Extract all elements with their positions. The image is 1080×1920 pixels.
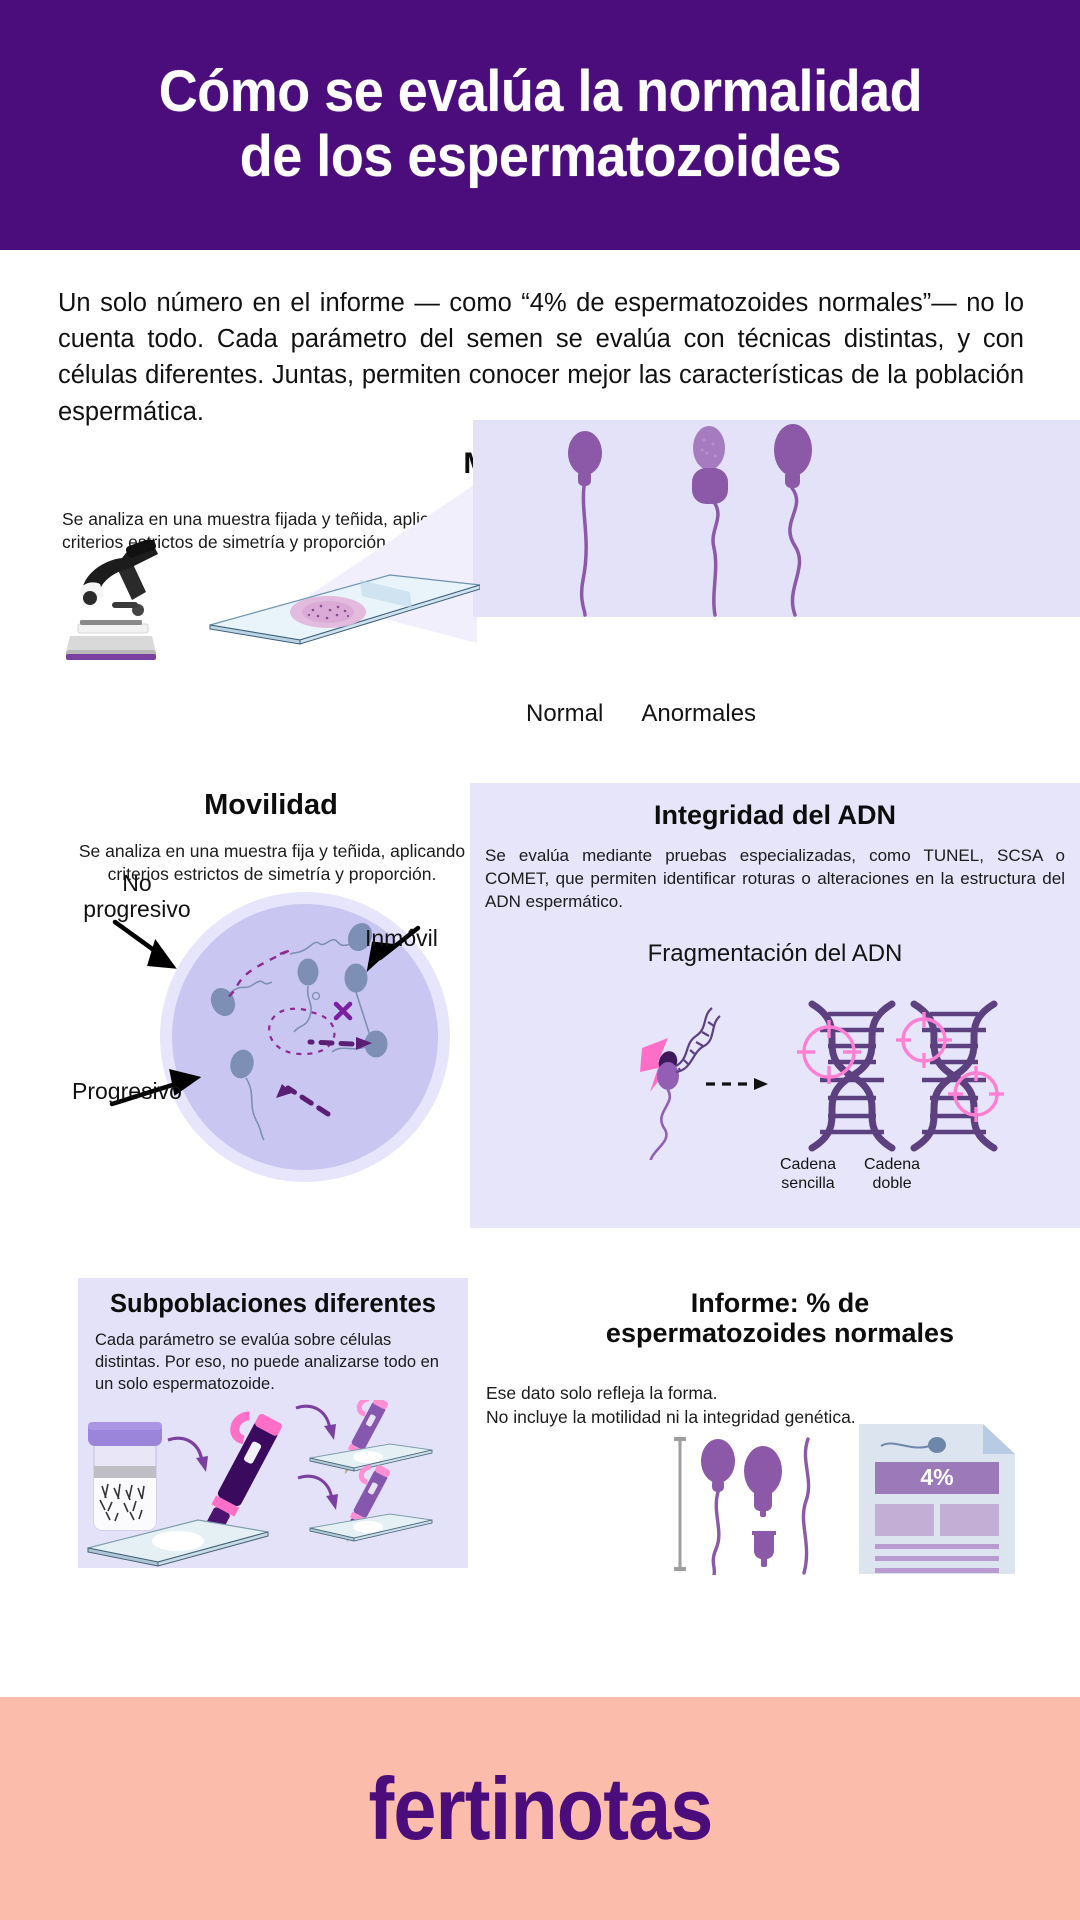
informe-sperm-parts: [672, 1435, 832, 1575]
subpoblaciones-description: Cada parámetro se evalúa sobre células d…: [95, 1330, 445, 1396]
morfologia-sperm-figures: [473, 420, 1080, 617]
morfologia-labels: Normal Anormales: [473, 700, 1080, 728]
page-title-line2: de los espermatozoides: [158, 125, 921, 190]
header-banner: Cómo se evalúa la normalidad de los espe…: [0, 0, 1080, 250]
dna-helix-single-break-icon: [797, 1004, 892, 1148]
sperm-head-icon: [744, 1446, 782, 1517]
label-normal: Normal: [526, 700, 603, 728]
arrow-icon: [298, 1476, 338, 1510]
measure-bar-icon: [674, 1439, 686, 1569]
sperm-abnormal-icon: [774, 424, 812, 615]
caption-cadena-sencilla-line2: sencilla: [780, 1174, 836, 1193]
microscope-slide-illustration: [60, 540, 480, 670]
adn-fragmentation-illustration: [580, 1000, 1020, 1160]
informe-title: Informe: % de espermatozoides normales: [480, 1288, 1080, 1348]
footer-banner: fertinotas: [0, 1697, 1080, 1920]
adn-description: Se evalúa mediante pruebas especializada…: [485, 845, 1065, 914]
label-no-progresivo: No progresivo: [62, 870, 212, 923]
microscope-slide-icon: [310, 1444, 432, 1471]
dna-helix-icon: [676, 1008, 720, 1072]
label-no-progresivo-line1: No: [62, 870, 212, 896]
arrow-icon: [706, 1078, 768, 1090]
page-title-line1: Cómo se evalúa la normalidad: [158, 60, 921, 125]
infographic-page: Cómo se evalúa la normalidad de los espe…: [0, 0, 1080, 1920]
sample-cup-icon: [88, 1422, 162, 1530]
informe-description-line1: Ese dato solo refleja la forma.: [486, 1382, 1066, 1406]
arrow-icon: [296, 1406, 336, 1440]
report-document-icon: 4%: [855, 1420, 1025, 1578]
sperm-whole-icon: [701, 1439, 735, 1575]
report-percentage-value: 4%: [920, 1464, 953, 1490]
sperm-normal-icon: [568, 431, 602, 615]
caption-cadena-sencilla: Cadena sencilla: [780, 1155, 836, 1193]
caption-cadena-doble-line2: doble: [864, 1174, 920, 1193]
caption-cadena-doble: Cadena doble: [864, 1155, 920, 1193]
movilidad-title: Movilidad: [0, 789, 542, 822]
sperm-tail-icon: [803, 1439, 808, 1573]
informe-title-line2: espermatozoides normales: [480, 1318, 1080, 1348]
subpoblaciones-illustration: [78, 1400, 468, 1568]
arrow-icon: [168, 1438, 208, 1472]
caption-cadena-sencilla-line1: Cadena: [780, 1155, 836, 1174]
break-marker-icon: [896, 1012, 952, 1068]
microscope-slide-icon: [310, 1514, 432, 1541]
label-no-progresivo-line2: progresivo: [62, 896, 212, 922]
caption-cadena-doble-line1: Cadena: [864, 1155, 920, 1174]
adn-title: Integridad del ADN: [470, 800, 1080, 831]
microscope-slide-icon: [210, 575, 480, 644]
label-inmovil: Inmóvil: [365, 925, 485, 951]
label-abnormal: Anormales: [641, 700, 756, 728]
brand-logo: fertinotas: [368, 1758, 712, 1860]
microscope-icon: [66, 540, 158, 660]
intro-paragraph: Un solo número en el informe — como “4% …: [58, 285, 1024, 430]
dna-helix-double-break-icon: [896, 1004, 1004, 1148]
label-progresivo: Progresivo: [72, 1078, 232, 1104]
sperm-abnormal-icon: [692, 426, 728, 615]
subpoblaciones-title: Subpoblaciones diferentes: [78, 1290, 468, 1319]
sperm-midpiece-icon: [752, 1531, 776, 1567]
page-title: Cómo se evalúa la normalidad de los espe…: [158, 60, 921, 190]
adn-captions: Cadena sencilla Cadena doble: [720, 1155, 980, 1193]
informe-title-line1: Informe: % de: [480, 1288, 1080, 1318]
adn-subtitle: Fragmentación del ADN: [470, 940, 1080, 968]
